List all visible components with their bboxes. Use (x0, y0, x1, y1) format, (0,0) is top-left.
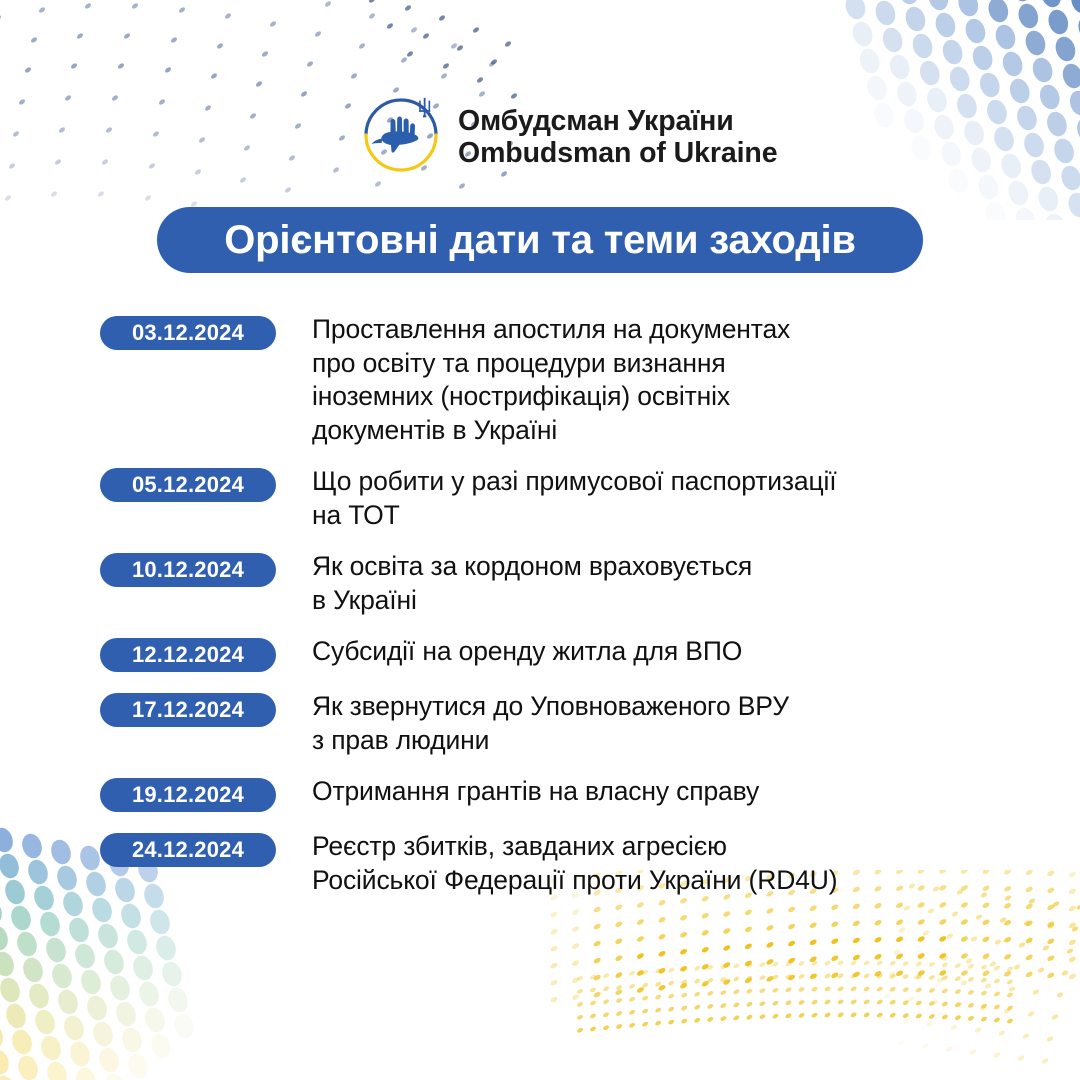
date-badge: 17.12.2024 (100, 693, 276, 727)
date-badge: 05.12.2024 (100, 468, 276, 502)
schedule-row: 12.12.2024Субсидії на оренду житла для В… (100, 635, 1000, 672)
date-text: 03.12.2024 (132, 322, 244, 344)
topic-text: Як освіта за кордоном враховується в Укр… (312, 550, 1000, 617)
brand-logo: Омбудсман України Ombudsman of Ukraine (358, 92, 777, 178)
poster-canvas: Омбудсман України Ombudsman of Ukraine О… (0, 0, 1080, 1080)
decoration-top-right-dot-grid (840, 0, 1080, 220)
schedule-row: 24.12.2024Реєстр збитків, завданих агрес… (100, 830, 1000, 897)
schedule-row: 03.12.2024Проставлення апостиля на докум… (100, 313, 1000, 447)
brand-name-en: Ombudsman of Ukraine (458, 137, 777, 169)
decoration-bottom-right-dot-wave (540, 870, 1080, 1080)
topic-text: Отримання грантів на власну справу (312, 775, 1000, 809)
date-badge: 24.12.2024 (100, 833, 276, 867)
schedule-row: 17.12.2024Як звернутися до Уповноваженог… (100, 690, 1000, 757)
topic-text: Проставлення апостиля на документах про … (312, 313, 1000, 447)
brand-name: Омбудсман України Ombudsman of Ukraine (458, 101, 777, 170)
date-text: 10.12.2024 (132, 559, 244, 581)
ombudsman-hand-dove-trident-logo (358, 92, 444, 178)
schedule-row: 19.12.2024Отримання грантів на власну сп… (100, 775, 1000, 812)
page-title-banner: Орієнтовні дати та теми заходів (157, 207, 923, 273)
date-text: 12.12.2024 (132, 644, 244, 666)
date-text: 05.12.2024 (132, 474, 244, 496)
topic-text: Що робити у разі примусової паспортизаці… (312, 465, 1000, 532)
page-title: Орієнтовні дати та теми заходів (224, 220, 856, 260)
date-badge: 10.12.2024 (100, 553, 276, 587)
schedule-row: 10.12.2024Як освіта за кордоном враховує… (100, 550, 1000, 617)
date-text: 19.12.2024 (132, 784, 244, 806)
topic-text: Як звернутися до Уповноваженого ВРУ з пр… (312, 690, 1000, 757)
date-badge: 03.12.2024 (100, 316, 276, 350)
topic-text: Субсидії на оренду житла для ВПО (312, 635, 1000, 669)
date-badge: 19.12.2024 (100, 778, 276, 812)
date-badge: 12.12.2024 (100, 638, 276, 672)
brand-name-uk: Омбудсман України (458, 105, 777, 137)
schedule-row: 05.12.2024Що робити у разі примусової па… (100, 465, 1000, 532)
topic-text: Реєстр збитків, завданих агресією Російс… (312, 830, 1000, 897)
date-text: 24.12.2024 (132, 839, 244, 861)
date-text: 17.12.2024 (132, 699, 244, 721)
schedule-list: 03.12.2024Проставлення апостиля на докум… (100, 313, 1000, 897)
